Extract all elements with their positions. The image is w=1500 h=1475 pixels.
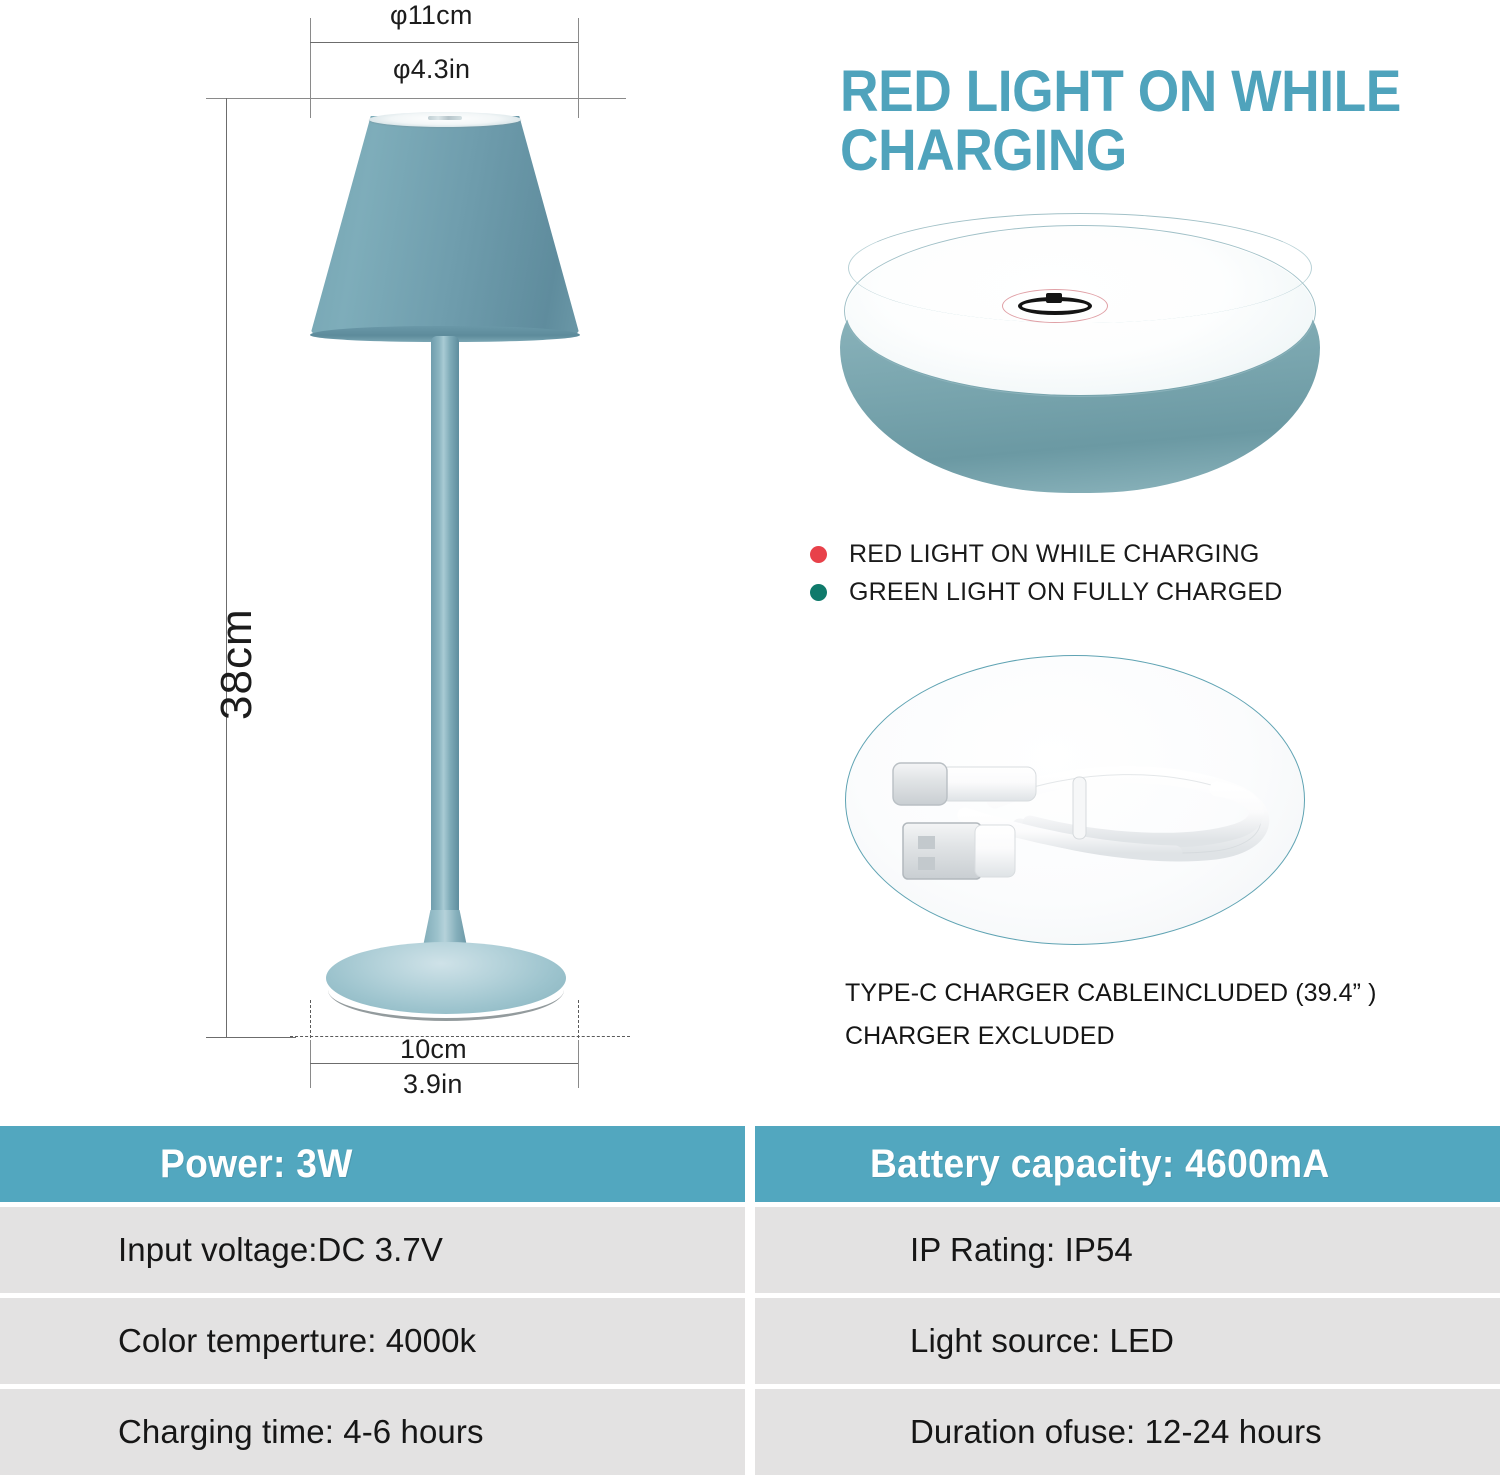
reference-line-shade-top	[206, 98, 626, 99]
spec-column-power: Power: 3W Input voltage:DC 3.7V Color te…	[0, 1126, 745, 1475]
dimension-line-shade-diameter	[310, 42, 578, 43]
dimension-label-shade-in: φ4.3in	[393, 54, 470, 85]
charging-info-panel: RED LIGHT ON WHILE CHARGING RED LIGHT ON…	[750, 0, 1500, 1118]
product-overview-area: φ11cm φ4.3in 38cm 10cm 3.9in	[0, 0, 1500, 1118]
usb-cable-illustration	[845, 655, 1305, 945]
lamp-shade-vent	[428, 116, 462, 120]
lamp-dimension-panel: φ11cm φ4.3in 38cm 10cm 3.9in	[0, 0, 750, 1118]
dimension-line-height	[226, 98, 227, 1038]
reference-line-base-bottom	[206, 1037, 296, 1038]
table-row: Charging time: 4-6 hours	[0, 1389, 745, 1475]
spec-header-label: Battery capacity: 4600mA	[870, 1142, 1330, 1187]
table-row: Light source: LED	[755, 1298, 1500, 1384]
table-row: Color temperture: 4000k	[0, 1298, 745, 1384]
dimension-tick-bottom-right	[578, 1040, 579, 1088]
dimension-label-shade-cm: φ11cm	[390, 0, 473, 31]
dimension-tick-top-left	[310, 18, 311, 118]
dimension-tick-bottom-left	[310, 1040, 311, 1088]
list-item: GREEN LIGHT ON FULLY CHARGED	[810, 573, 1470, 611]
headline: RED LIGHT ON WHILE CHARGING	[840, 62, 1410, 180]
dimension-label-height: 38cm	[212, 608, 262, 720]
cable-caption-line-2: CHARGER EXCLUDED	[845, 1015, 1495, 1058]
headline-line-2: CHARGING	[840, 121, 1410, 180]
power-button-bar-icon	[1046, 293, 1062, 303]
table-row: Duration ofuse: 12-24 hours	[755, 1389, 1500, 1475]
indicator-list: RED LIGHT ON WHILE CHARGING GREEN LIGHT …	[810, 535, 1470, 611]
spec-cell-charging-time: Charging time: 4-6 hours	[118, 1413, 484, 1451]
spec-cell-color-temperature: Color temperture: 4000k	[118, 1322, 476, 1360]
dimension-label-base-cm: 10cm	[400, 1034, 467, 1065]
dimension-label-base-in: 3.9in	[403, 1069, 463, 1100]
table-row: IP Rating: IP54	[755, 1207, 1500, 1293]
lamp-base-shadow	[328, 959, 564, 1021]
specification-table: Power: 3W Input voltage:DC 3.7V Color te…	[0, 1126, 1500, 1475]
spec-cell-duration-of-use: Duration ofuse: 12-24 hours	[910, 1413, 1322, 1451]
list-item: RED LIGHT ON WHILE CHARGING	[810, 535, 1470, 573]
spec-header-battery: Battery capacity: 4600mA	[755, 1126, 1500, 1202]
spec-cell-input-voltage: Input voltage:DC 3.7V	[118, 1231, 443, 1269]
lamp-stem	[431, 336, 459, 946]
spec-column-battery: Battery capacity: 4600mA IP Rating: IP54…	[755, 1126, 1500, 1475]
spec-header-label: Power: 3W	[160, 1142, 353, 1187]
cable-caption-line-1: TYPE-C CHARGER CABLEINCLUDED (39.4” )	[845, 972, 1495, 1015]
charging-base-image	[830, 205, 1330, 505]
charger-cable-image	[845, 655, 1305, 955]
headline-line-1: RED LIGHT ON WHILE	[840, 62, 1410, 121]
lamp-shade	[310, 116, 580, 336]
cable-caption: TYPE-C CHARGER CABLEINCLUDED (39.4” ) CH…	[845, 972, 1495, 1057]
indicator-label-charging: RED LIGHT ON WHILE CHARGING	[849, 540, 1260, 569]
indicator-label-charged: GREEN LIGHT ON FULLY CHARGED	[849, 578, 1282, 607]
lamp-product-image	[300, 104, 590, 1034]
spec-cell-light-source: Light source: LED	[910, 1322, 1174, 1360]
table-row: Input voltage:DC 3.7V	[0, 1207, 745, 1293]
dot-icon-red	[810, 546, 827, 563]
dot-icon-green	[810, 584, 827, 601]
spec-cell-ip-rating: IP Rating: IP54	[910, 1231, 1133, 1269]
dimension-tick-top-right	[578, 18, 579, 118]
spec-header-power: Power: 3W	[0, 1126, 745, 1202]
